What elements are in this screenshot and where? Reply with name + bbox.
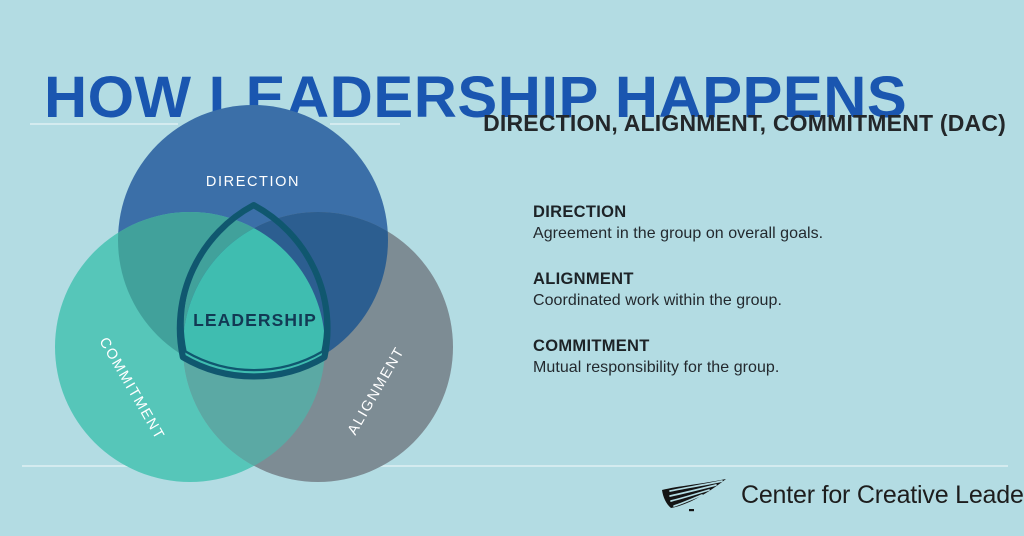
definition-text: Mutual responsibility for the group. bbox=[533, 359, 953, 377]
definition-commitment: COMMITMENT Mutual responsibility for the… bbox=[533, 337, 953, 377]
definitions-list: DIRECTION Agreement in the group on over… bbox=[533, 203, 953, 377]
brand-name: Center for Creative Leadership® bbox=[741, 481, 1024, 510]
definition-alignment: ALIGNMENT Coordinated work within the gr… bbox=[533, 270, 953, 310]
venn-diagram: DIRECTION COMMITMENT ALIGNMENT LEADERSHI… bbox=[0, 95, 520, 536]
infographic-canvas: HOW LEADERSHIP HAPPENS DIRECTION, ALIGNM… bbox=[0, 0, 1024, 536]
ccl-swoosh-icon bbox=[658, 477, 730, 513]
definition-text: Agreement in the group on overall goals. bbox=[533, 225, 953, 243]
page-subtitle: DIRECTION, ALIGNMENT, COMMITMENT (DAC) bbox=[483, 110, 1006, 137]
definition-text: Coordinated work within the group. bbox=[533, 292, 953, 310]
venn-label-leadership: LEADERSHIP bbox=[193, 310, 317, 330]
definition-term: ALIGNMENT bbox=[533, 270, 953, 289]
venn-label-direction: DIRECTION bbox=[206, 174, 300, 190]
brand-logo: Center for Creative Leadership® bbox=[658, 477, 1024, 513]
definition-term: COMMITMENT bbox=[533, 337, 953, 356]
brand-name-text: Center for Creative Leadership bbox=[741, 481, 1024, 509]
definition-direction: DIRECTION Agreement in the group on over… bbox=[533, 203, 953, 243]
definition-term: DIRECTION bbox=[533, 203, 953, 222]
